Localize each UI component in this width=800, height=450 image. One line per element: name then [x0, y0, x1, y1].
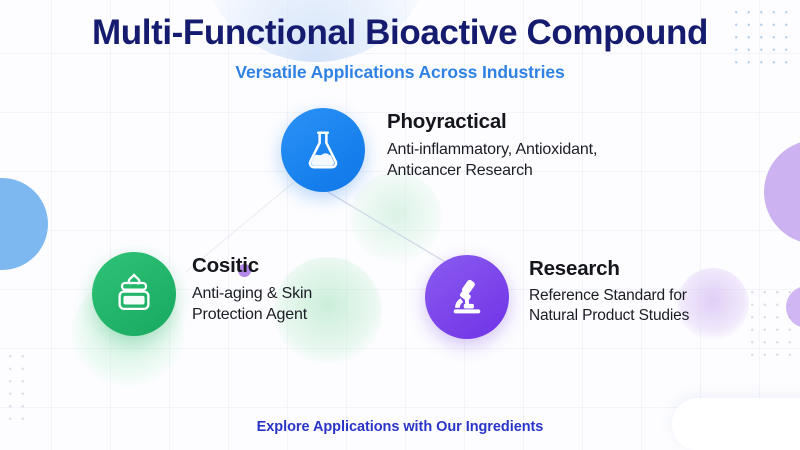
card-description-cosmetic: Anti-aging & Skin Protection Agent — [192, 283, 367, 326]
card-description-pharma: Anti-inflammatory, Antioxidant, Anticanc… — [387, 139, 687, 182]
cream-jar-icon — [92, 252, 176, 336]
page-title: Multi-Functional Bioactive Compound — [0, 12, 800, 53]
application-card-pharma[interactable]: Phoyractical Anti-inflammatory, Antioxid… — [281, 108, 687, 192]
microscope-icon — [425, 255, 509, 339]
card-title-research: Research — [529, 257, 759, 282]
footer-cta[interactable]: Explore Applications with Our Ingredient… — [0, 419, 800, 435]
application-card-cosmetic[interactable]: Cositic Anti-aging & Skin Protection Age… — [92, 252, 367, 336]
card-text-pharma: Phoyractical Anti-inflammatory, Antioxid… — [387, 108, 687, 181]
application-card-research[interactable]: Research Reference Standard for Natural … — [425, 255, 759, 339]
slide-header: Multi-Functional Bioactive Compound Vers… — [0, 12, 800, 83]
decorative-circle-purple-edge — [786, 286, 800, 328]
card-text-cosmetic: Cositic Anti-aging & Skin Protection Age… — [192, 252, 367, 325]
decorative-circle-purple-right — [764, 140, 800, 244]
card-text-research: Research Reference Standard for Natural … — [529, 255, 759, 327]
dot-grid-bottom-left — [4, 350, 30, 430]
decorative-circle-blue-left — [0, 178, 48, 270]
card-description-research: Reference Standard for Natural Product S… — [529, 286, 759, 327]
slide-canvas: Multi-Functional Bioactive Compound Vers… — [0, 0, 800, 450]
flask-icon — [281, 108, 365, 192]
card-title-cosmetic: Cositic — [192, 254, 367, 279]
card-title-pharma: Phoyractical — [387, 110, 687, 135]
page-subtitle: Versatile Applications Across Industries — [0, 62, 800, 83]
